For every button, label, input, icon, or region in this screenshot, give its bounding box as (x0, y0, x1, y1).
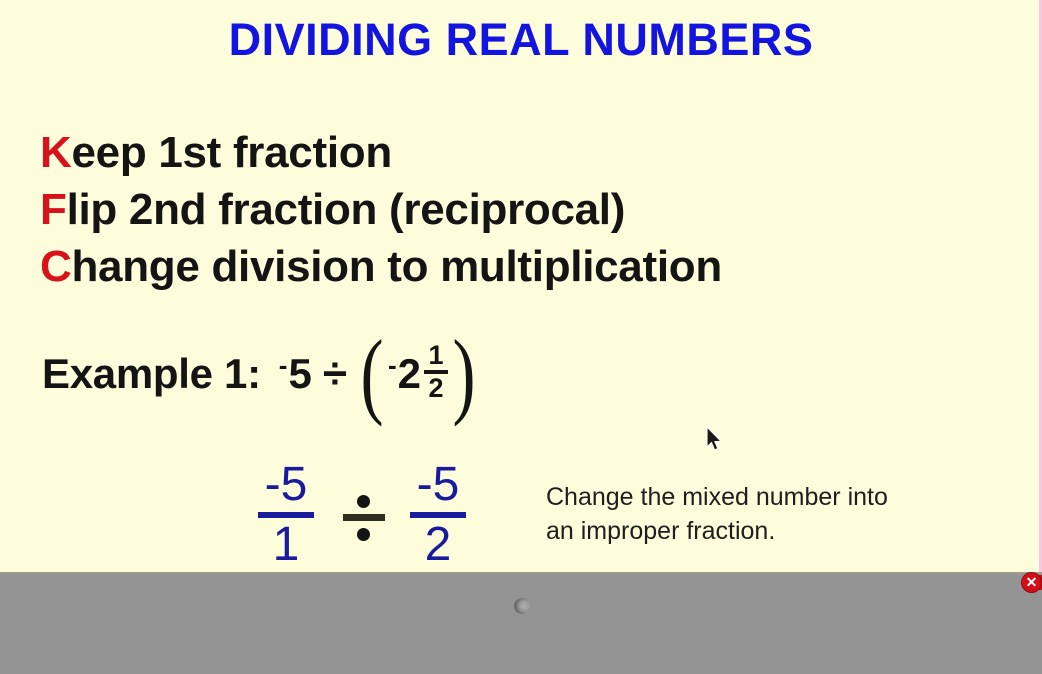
work-division-icon (340, 491, 388, 543)
work-row: -5 1 -5 2 (258, 460, 466, 570)
division-dot-top (357, 495, 370, 508)
first-operand-sign: - (279, 352, 288, 378)
mixed-sign: - (388, 352, 397, 378)
mixed-denominator: 2 (428, 375, 443, 402)
division-dot-bottom (357, 528, 370, 541)
work-left-denominator: 1 (273, 520, 300, 570)
mixed-number: -2 1 2 (388, 344, 448, 404)
work-left-fraction: -5 1 (258, 460, 314, 570)
explanation-note: Change the mixed number into an improper… (546, 480, 966, 548)
close-icon-glyph: ✕ (1022, 573, 1041, 592)
work-right-fraction: -5 2 (410, 460, 466, 570)
note-line-2: an improper fraction. (546, 514, 966, 548)
note-line-1: Change the mixed number into (546, 480, 966, 514)
step-initial-k: K (40, 128, 71, 177)
first-operand: 5 (288, 353, 311, 395)
open-paren: ( (360, 344, 383, 404)
work-right-denominator: 2 (425, 520, 452, 570)
steps-list: Keep 1st fraction Flip 2nd fraction (rec… (40, 124, 940, 295)
step-line-flip: Flip 2nd fraction (reciprocal) (40, 181, 940, 238)
example-row: Example 1: -5 ÷ ( -2 1 2 ) (42, 344, 480, 404)
player-bar[interactable] (0, 572, 1042, 674)
mixed-fraction: 1 2 (424, 342, 448, 402)
step-text-keep: eep 1st fraction (71, 128, 391, 177)
example-label: Example 1: (42, 350, 261, 398)
mixed-whole: 2 (398, 353, 421, 395)
close-paren: ) (452, 344, 475, 404)
step-initial-f: F (40, 185, 67, 234)
division-operator-icon: ÷ (323, 352, 347, 396)
step-text-flip: lip 2nd fraction (reciprocal) (67, 185, 626, 234)
division-bar (343, 514, 385, 521)
slide-canvas: DIVIDING REAL NUMBERS Keep 1st fraction … (0, 0, 1042, 572)
step-text-change: hange division to multiplication (71, 242, 721, 291)
close-error-badge[interactable]: ✕ (1022, 573, 1042, 592)
page-title: DIVIDING REAL NUMBERS (0, 14, 1042, 66)
step-line-keep: Keep 1st fraction (40, 124, 940, 181)
loading-spinner-icon (514, 598, 530, 614)
work-right-numerator: -5 (417, 460, 460, 510)
step-initial-c: C (40, 242, 71, 291)
work-left-numerator: -5 (265, 460, 308, 510)
player-bar-top-edge (0, 572, 1042, 574)
mixed-numerator: 1 (428, 342, 443, 369)
screen: DIVIDING REAL NUMBERS Keep 1st fraction … (0, 0, 1042, 674)
example-expression: -5 ÷ ( -2 1 2 ) (279, 344, 480, 404)
close-icon[interactable]: ✕ (1022, 573, 1041, 592)
step-line-change: Change division to multiplication (40, 238, 940, 295)
